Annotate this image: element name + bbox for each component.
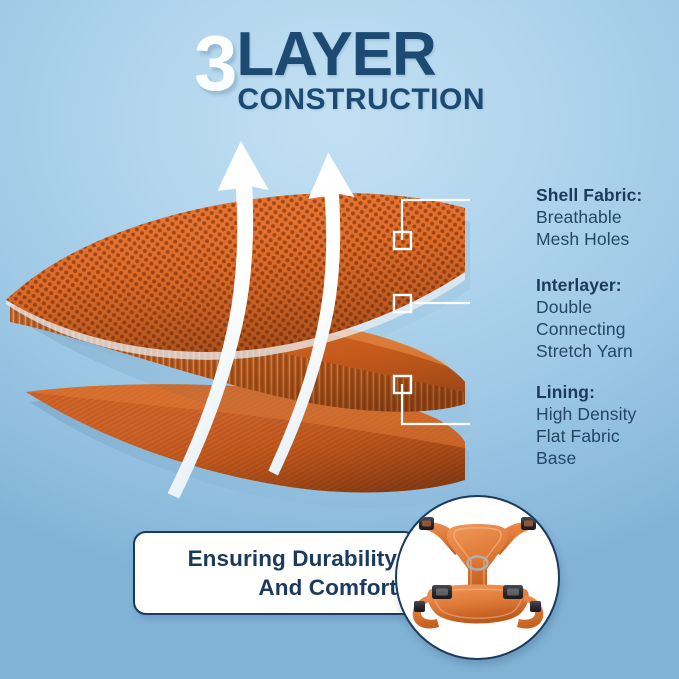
title-row: 3 LAYER CONSTRUCTION [0,26,679,115]
callout-body: Breathable Mesh Holes [536,206,642,250]
callout-heading: Lining: [536,381,636,403]
harness-adjuster-right [530,601,541,612]
harness-adjuster-left [414,601,425,612]
title-subtitle-word: CONSTRUCTION [237,85,485,115]
product-image-circle [395,495,560,660]
callout-heading: Interlayer: [536,274,633,296]
tagline-banner: Ensuring Durability And Comfort [133,531,417,615]
page-title: 3 LAYER CONSTRUCTION [0,26,679,115]
callout-interlayer: Interlayer: Double Connecting Stretch Ya… [536,274,633,362]
title-number: 3 [194,24,234,102]
dog-harness-illustration [397,497,558,658]
title-stack: LAYER CONSTRUCTION [236,26,485,115]
title-main-word: LAYER [236,26,435,83]
infographic-canvas: 3 LAYER CONSTRUCTION [0,0,679,679]
callout-shell-fabric: Shell Fabric: Breathable Mesh Holes [536,184,642,250]
tagline-text: Ensuring Durability And Comfort [188,544,397,603]
callout-lining: Lining: High Density Flat Fabric Base [536,381,636,469]
callout-body: Double Connecting Stretch Yarn [536,296,633,362]
three-layer-illustration [0,130,470,510]
callout-heading: Shell Fabric: [536,184,642,206]
callout-body: High Density Flat Fabric Base [536,403,636,469]
